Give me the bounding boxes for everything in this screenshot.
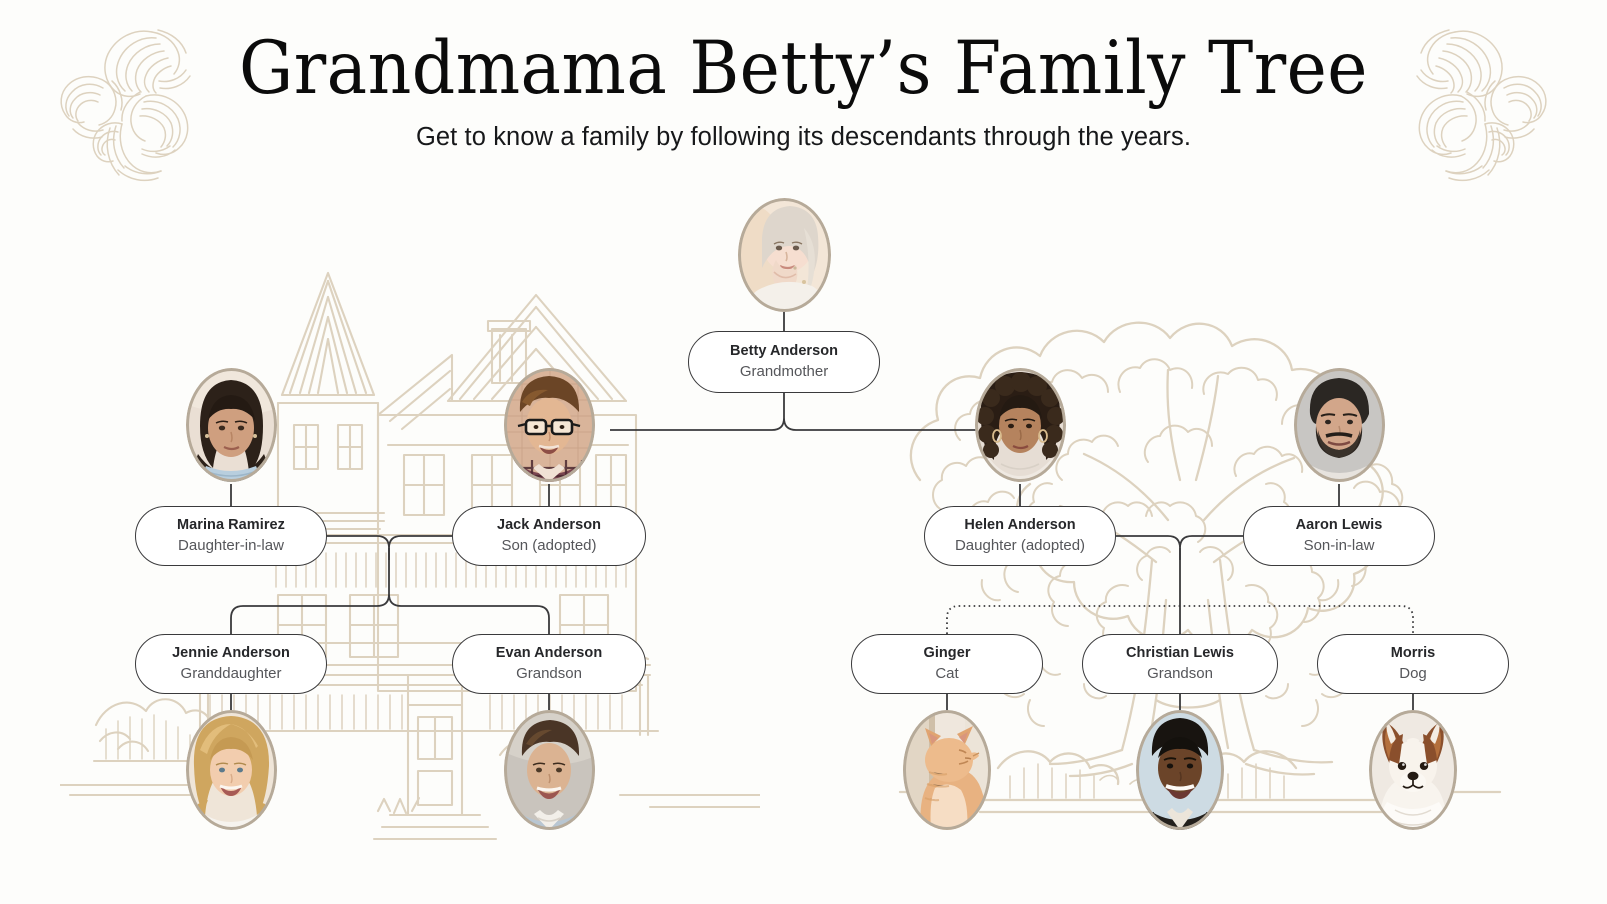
avatar-marina[interactable] bbox=[186, 368, 277, 482]
node-role: Daughter-in-law bbox=[178, 537, 284, 555]
node-card-ginger[interactable]: Ginger Cat bbox=[851, 634, 1043, 694]
node-role: Grandson bbox=[1147, 665, 1213, 683]
avatar-jack[interactable] bbox=[504, 368, 595, 482]
avatar-aaron[interactable] bbox=[1294, 368, 1385, 482]
node-card-christian[interactable]: Christian Lewis Grandson bbox=[1082, 634, 1278, 694]
node-name: Jennie Anderson bbox=[172, 645, 290, 662]
avatar-evan[interactable] bbox=[504, 710, 595, 830]
node-card-marina[interactable]: Marina Ramirez Daughter-in-law bbox=[135, 506, 327, 566]
node-card-betty[interactable]: Betty Anderson Grandmother bbox=[688, 331, 880, 393]
node-role: Grandson bbox=[516, 665, 582, 683]
node-card-aaron[interactable]: Aaron Lewis Son-in-law bbox=[1243, 506, 1435, 566]
node-role: Granddaughter bbox=[181, 665, 282, 683]
node-card-jack[interactable]: Jack Anderson Son (adopted) bbox=[452, 506, 646, 566]
node-role: Son (adopted) bbox=[501, 537, 596, 555]
node-card-helen[interactable]: Helen Anderson Daughter (adopted) bbox=[924, 506, 1116, 566]
node-card-jennie[interactable]: Jennie Anderson Granddaughter bbox=[135, 634, 327, 694]
node-name: Jack Anderson bbox=[497, 517, 601, 534]
node-name: Betty Anderson bbox=[730, 343, 838, 360]
node-name: Aaron Lewis bbox=[1296, 517, 1383, 534]
connector-to-jennie-evan bbox=[231, 594, 549, 634]
node-name: Morris bbox=[1391, 645, 1436, 662]
node-card-morris[interactable]: Morris Dog bbox=[1317, 634, 1509, 694]
node-card-evan[interactable]: Evan Anderson Grandson bbox=[452, 634, 646, 694]
avatar-jennie[interactable] bbox=[186, 710, 277, 830]
avatar-helen[interactable] bbox=[975, 368, 1066, 482]
avatar-morris[interactable] bbox=[1369, 710, 1457, 830]
avatar-ginger[interactable] bbox=[903, 710, 991, 830]
node-role: Grandmother bbox=[740, 363, 828, 381]
node-role: Cat bbox=[935, 665, 958, 683]
avatar-christian[interactable] bbox=[1136, 710, 1224, 830]
node-name: Helen Anderson bbox=[964, 517, 1075, 534]
node-name: Christian Lewis bbox=[1126, 645, 1234, 662]
node-name: Evan Anderson bbox=[496, 645, 602, 662]
node-role: Dog bbox=[1399, 665, 1427, 683]
family-tree-infographic: Grandmama Betty’s Family Tree Get to kno… bbox=[0, 0, 1607, 904]
connector-betty-to-children bbox=[610, 393, 1008, 430]
avatar-betty[interactable] bbox=[738, 198, 831, 312]
node-name: Ginger bbox=[923, 645, 970, 662]
node-role: Son-in-law bbox=[1304, 537, 1375, 555]
node-role: Daughter (adopted) bbox=[955, 537, 1085, 555]
node-name: Marina Ramirez bbox=[177, 517, 285, 534]
